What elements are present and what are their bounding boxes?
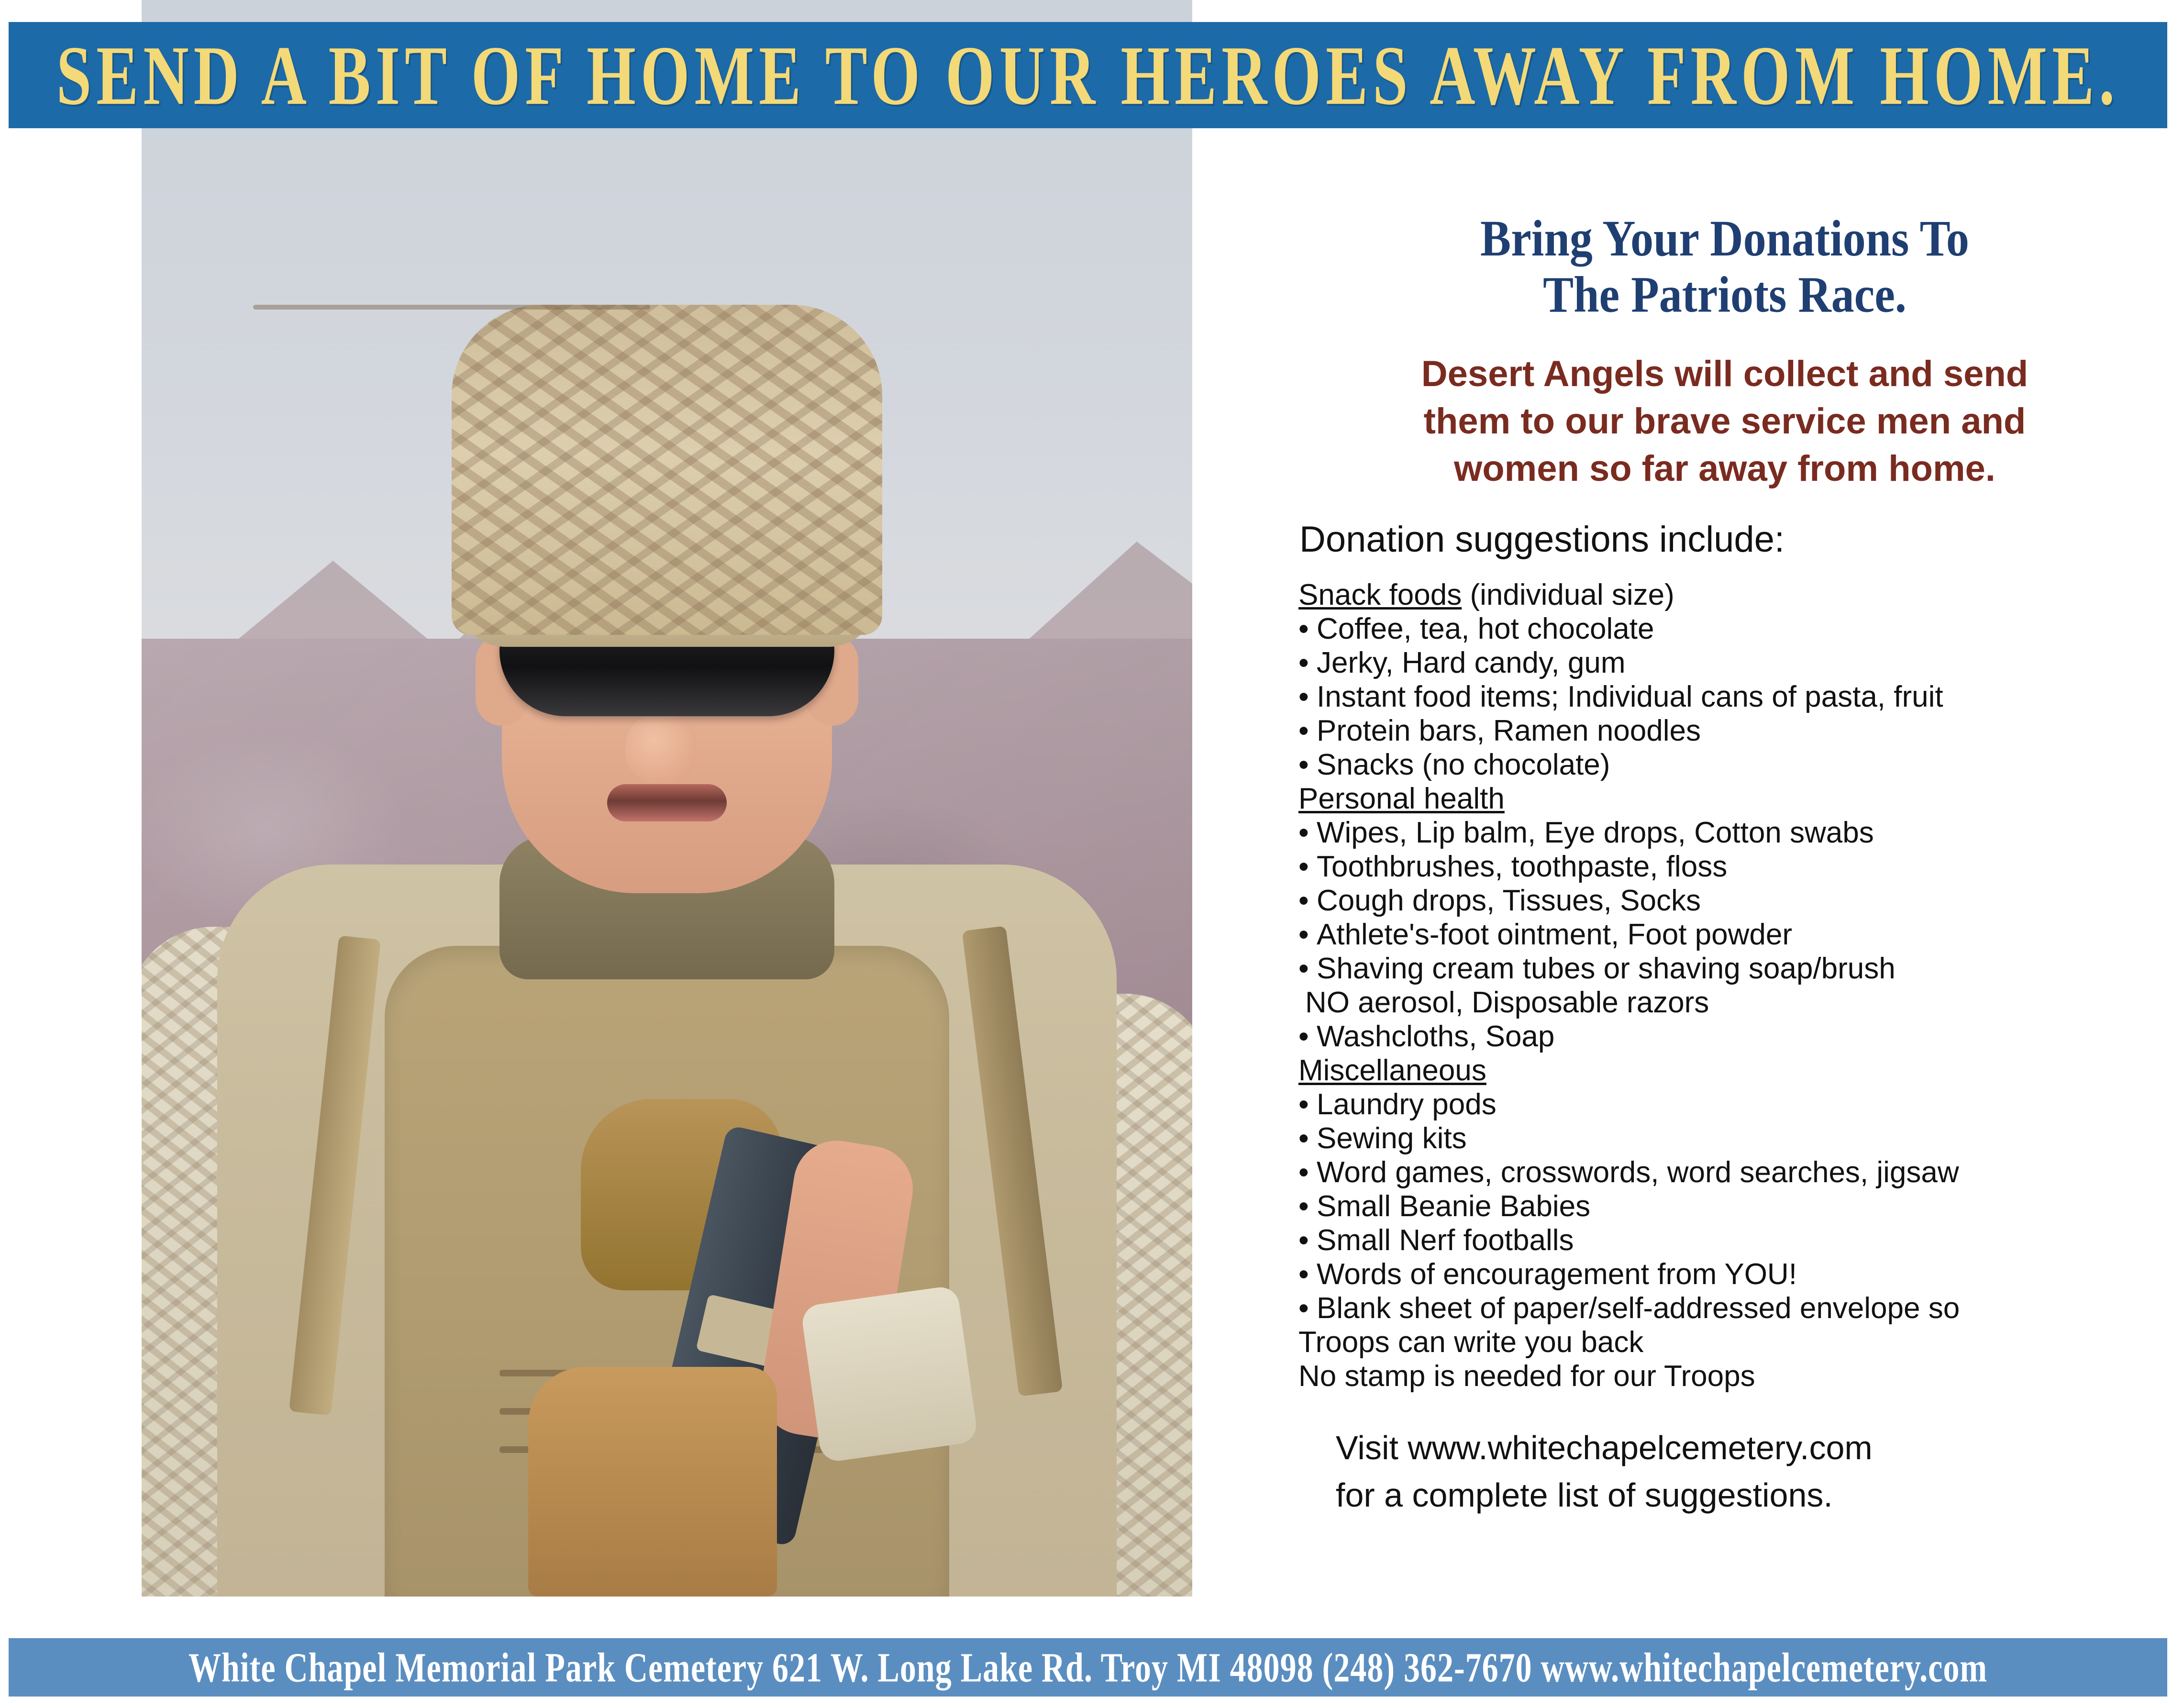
donation-suggestions-list: Snack foods (individual size) •Coffee, t… <box>1292 578 2158 1394</box>
bullet-icon: • <box>1298 1258 1317 1292</box>
bullet-icon: • <box>1298 1020 1317 1054</box>
list-item-label: Instant food items; Individual cans of p… <box>1317 680 1943 713</box>
category-heading-underlined-text: Snack foods <box>1298 578 1462 611</box>
list-item: •Small Beanie Babies <box>1298 1190 2158 1224</box>
list-item-label: Small Beanie Babies <box>1317 1190 1590 1223</box>
list-item: •Sewing kits <box>1298 1122 2158 1156</box>
suggestions-lead: Donation suggestions include: <box>1292 520 2158 560</box>
bullet-icon: • <box>1298 952 1317 986</box>
headline-banner: SEND A BIT OF HOME TO OUR HEROES AWAY FR… <box>9 22 2167 128</box>
list-item: •Snacks (no chocolate) <box>1298 748 2158 782</box>
soldier-mouth <box>607 784 727 821</box>
bullet-icon: • <box>1298 1292 1317 1326</box>
list-note: NO aerosol, Disposable razors <box>1298 986 2158 1020</box>
bullet-icon: • <box>1298 680 1317 714</box>
bullet-icon: • <box>1298 1122 1317 1156</box>
list-item-label: Shaving cream tubes or shaving soap/brus… <box>1317 952 1896 985</box>
visit-website-block: Visit www.whitechapelcemetery.com for a … <box>1292 1424 2158 1519</box>
category-heading-snack-foods: Snack foods (individual size) <box>1298 578 2158 612</box>
list-item: •Words of encouragement from YOU! <box>1298 1258 2158 1292</box>
list-note: Troops can write you back <box>1298 1326 2158 1360</box>
list-item: •Small Nerf footballs <box>1298 1224 2158 1258</box>
list-item: •Shaving cream tubes or shaving soap/bru… <box>1298 952 2158 986</box>
donations-title: Bring Your Donations To The Patriots Rac… <box>1292 211 2158 322</box>
list-item: •Laundry pods <box>1298 1088 2158 1122</box>
cap-seam <box>253 305 650 310</box>
list-item: •Blank sheet of paper/self-addressed env… <box>1298 1292 2158 1326</box>
bullet-icon: • <box>1298 1224 1317 1258</box>
bullet-icon: • <box>1298 1156 1317 1190</box>
list-item-label: Athlete's-foot ointment, Foot powder <box>1317 918 1792 951</box>
list-item: •Word games, crosswords, word searches, … <box>1298 1156 2158 1190</box>
list-item-label: Cough drops, Tissues, Socks <box>1317 884 1701 917</box>
donations-title-line2: The Patriots Race. <box>1292 266 2158 322</box>
category-heading-personal-health: Personal health <box>1298 782 2158 816</box>
list-item: •Cough drops, Tissues, Socks <box>1298 884 2158 918</box>
list-item-label: Laundry pods <box>1317 1088 1497 1121</box>
bullet-icon: • <box>1298 612 1317 646</box>
list-item-label: Small Nerf footballs <box>1317 1224 1574 1257</box>
bullet-icon: • <box>1298 918 1317 952</box>
soldier-camo-cap <box>452 305 882 635</box>
list-item-label: Snacks (no chocolate) <box>1317 748 1610 781</box>
bullet-icon: • <box>1298 748 1317 782</box>
list-item-label: Toothbrushes, toothpaste, floss <box>1317 850 1727 883</box>
soldier-glove <box>528 1367 777 1597</box>
list-item-label: Jerky, Hard candy, gum <box>1317 646 1626 679</box>
headline-text: SEND A BIT OF HOME TO OUR HEROES AWAY FR… <box>56 26 2119 124</box>
list-item-label: Blank sheet of paper/self-addressed enve… <box>1317 1292 1960 1325</box>
desert-angels-line3: women so far away from home. <box>1292 445 2158 493</box>
contact-footer-text: White Chapel Memorial Park Cemetery 621 … <box>188 1643 1987 1691</box>
donation-info-column: Bring Your Donations To The Patriots Rac… <box>1292 211 2158 1519</box>
list-item: •Instant food items; Individual cans of … <box>1298 680 2158 714</box>
bullet-icon: • <box>1298 714 1317 748</box>
bullet-icon: • <box>1298 816 1317 850</box>
bullet-icon: • <box>1298 646 1317 680</box>
list-item-label: Sewing kits <box>1317 1122 1467 1155</box>
visit-website-line[interactable]: Visit www.whitechapelcemetery.com <box>1336 1424 2158 1472</box>
bullet-icon: • <box>1298 884 1317 918</box>
contact-footer-bar: White Chapel Memorial Park Cemetery 621 … <box>9 1638 2167 1697</box>
list-item: •Wipes, Lip balm, Eye drops, Cotton swab… <box>1298 816 2158 850</box>
soldier-sleeve-cuff <box>800 1285 979 1464</box>
list-item: •Coffee, tea, hot chocolate <box>1298 612 2158 646</box>
category-heading-underlined-text: Miscellaneous <box>1298 1054 1486 1087</box>
list-item-label: Word games, crosswords, word searches, j… <box>1317 1156 1959 1189</box>
desert-angels-line2: them to our brave service men and <box>1292 398 2158 445</box>
desert-angels-line1: Desert Angels will collect and send <box>1292 351 2158 398</box>
list-item-label: Words of encouragement from YOU! <box>1317 1258 1797 1291</box>
list-item-label: Washcloths, Soap <box>1317 1020 1554 1053</box>
category-heading-underlined-text: Personal health <box>1298 782 1505 815</box>
list-item: •Protein bars, Ramen noodles <box>1298 714 2158 748</box>
list-note: No stamp is needed for our Troops <box>1298 1360 2158 1394</box>
category-heading-suffix: (individual size) <box>1462 578 1674 611</box>
list-item-label: Coffee, tea, hot chocolate <box>1317 612 1654 645</box>
list-item: •Athlete's-foot ointment, Foot powder <box>1298 918 2158 952</box>
bullet-icon: • <box>1298 1190 1317 1224</box>
list-item: •Jerky, Hard candy, gum <box>1298 646 2158 680</box>
list-item-label: Wipes, Lip balm, Eye drops, Cotton swabs <box>1317 816 1874 849</box>
soldier-nose <box>625 711 697 783</box>
list-item-label: Protein bars, Ramen noodles <box>1317 714 1701 747</box>
list-item: •Washcloths, Soap <box>1298 1020 2158 1054</box>
bullet-icon: • <box>1298 1088 1317 1122</box>
soldier-photo <box>142 0 1192 1597</box>
desert-angels-paragraph: Desert Angels will collect and send them… <box>1292 351 2158 492</box>
bullet-icon: • <box>1298 850 1317 884</box>
category-heading-miscellaneous: Miscellaneous <box>1298 1054 2158 1088</box>
list-item: •Toothbrushes, toothpaste, floss <box>1298 850 2158 884</box>
donations-title-line1: Bring Your Donations To <box>1292 211 2158 266</box>
visit-website-subline: for a complete list of suggestions. <box>1336 1472 2158 1519</box>
